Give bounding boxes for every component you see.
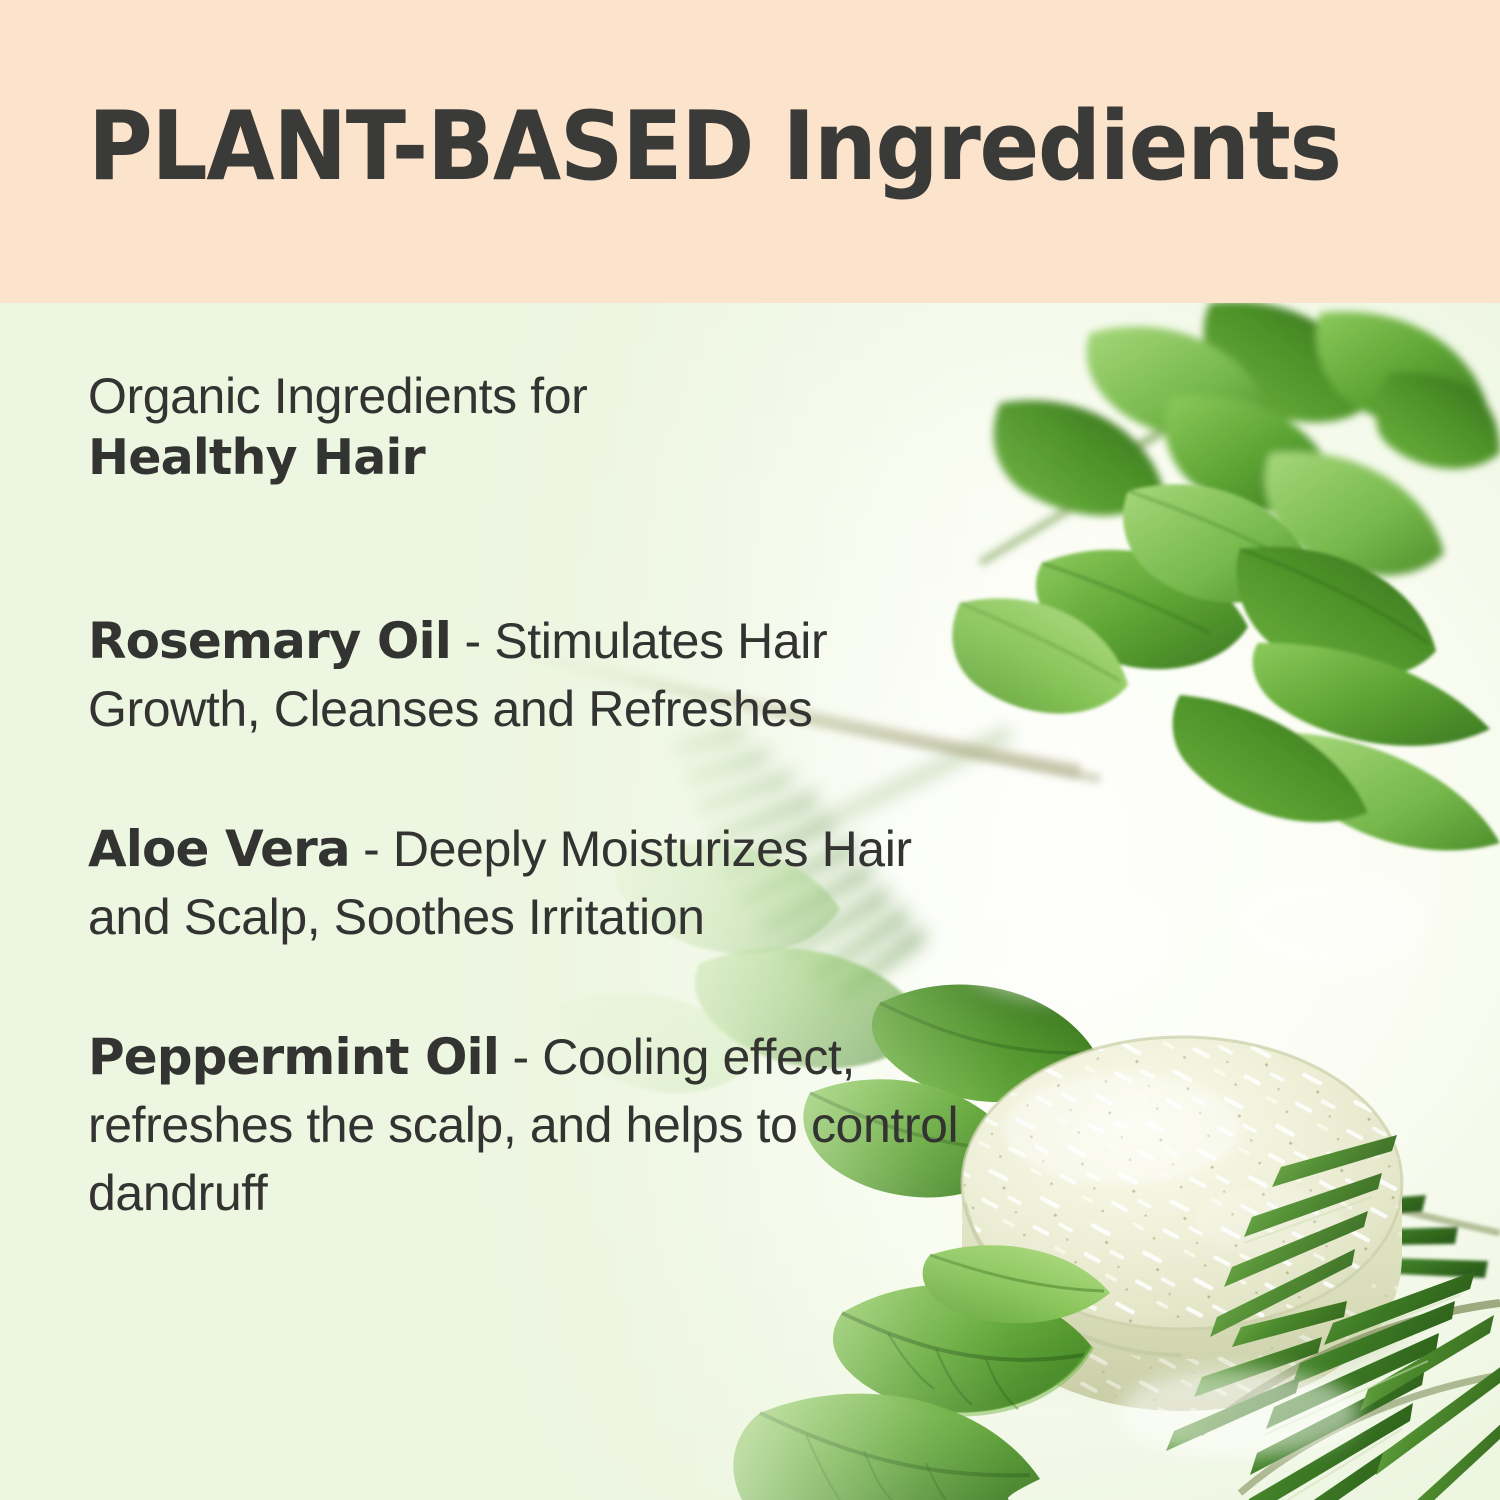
header-banner: PLANT-BASED Ingredients: [0, 0, 1500, 303]
ingredient-separator: -: [451, 613, 494, 669]
ingredient-item-aloe-vera: Aloe Vera - Deeply Moisturizes Hair and …: [88, 815, 988, 951]
page-title: PLANT-BASED Ingredients: [88, 95, 1341, 199]
ingredient-name: Aloe Vera: [88, 820, 350, 878]
ingredient-name: Rosemary Oil: [88, 612, 451, 670]
lead-line-1: Organic Ingredients for: [88, 365, 988, 427]
ingredient-name: Peppermint Oil: [88, 1028, 499, 1086]
infographic-page: PLANT-BASED Ingredients: [0, 0, 1500, 1500]
ingredient-separator: -: [350, 821, 393, 877]
lead-line-2: Healthy Hair: [88, 427, 988, 489]
ingredient-item-rosemary-oil: Rosemary Oil - Stimulates Hair Growth, C…: [88, 607, 988, 743]
ingredient-item-peppermint-oil: Peppermint Oil - Cooling effect, refresh…: [88, 1023, 988, 1227]
text-column: Organic Ingredients for Healthy Hair Ros…: [88, 365, 988, 1277]
ingredient-separator: -: [499, 1029, 542, 1085]
lead-paragraph: Organic Ingredients for Healthy Hair: [88, 365, 988, 489]
